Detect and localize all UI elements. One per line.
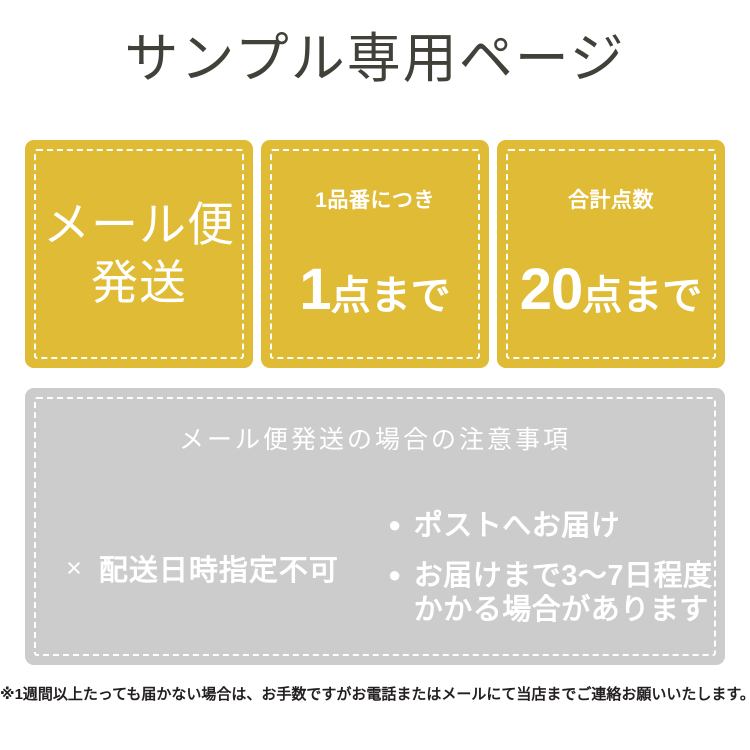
card-per-item-caption: 1品番につき — [269, 190, 481, 211]
bullet-dot-icon: ● — [388, 509, 402, 541]
bullet-dot-icon: ● — [388, 559, 402, 591]
bullet-label: お届けまで3〜7日程度 かかる場合があります — [414, 559, 713, 627]
card-content: メール便 発送 — [25, 196, 253, 313]
card-per-item-limit: 1品番につき 1 点まで — [261, 140, 489, 368]
notice-body: × 配送日時指定不可 ● ポストへお届け ● お届けまで3〜7日程度 かかる場合… — [25, 493, 725, 643]
card-mail-delivery-line1: メール便 — [33, 196, 245, 254]
list-item: ● ポストへお届け — [388, 509, 725, 543]
promo-banner: サンプル専用ページ メール便 発送 1品番につき 1 点まで 合計点数 — [0, 0, 750, 750]
notice-restriction-item: × 配送日時指定不可 — [25, 547, 380, 589]
notice-heading: メール便発送の場合の注意事項 — [25, 428, 725, 453]
card-per-item-unit: 点まで — [331, 276, 451, 316]
footnote-text: ※1週間以上たっても届かない場合は、お手数ですがお電話またはメールにて当店までご… — [0, 683, 750, 704]
card-total-caption: 合計点数 — [505, 190, 717, 211]
notice-restriction-label: 配送日時指定不可 — [99, 547, 339, 589]
cross-icon: × — [66, 555, 83, 582]
card-total-number: 20 — [520, 261, 583, 319]
card-total-value: 20 点まで — [505, 261, 717, 319]
bullet-label: ポストへお届け — [414, 509, 621, 543]
card-content: 1品番につき 1 点まで — [261, 190, 489, 319]
card-per-item-value: 1 点まで — [269, 261, 481, 319]
card-mail-delivery-line2: 発送 — [33, 254, 245, 312]
card-per-item-number: 1 — [299, 261, 330, 319]
card-total-limit: 合計点数 20 点まで — [497, 140, 725, 368]
feature-card-row: メール便 発送 1品番につき 1 点まで 合計点数 20 点まで — [25, 140, 725, 368]
notice-bullet-list: ● ポストへお届け ● お届けまで3〜7日程度 かかる場合があります — [380, 509, 725, 628]
list-item: ● お届けまで3〜7日程度 かかる場合があります — [388, 559, 725, 627]
card-content: 合計点数 20 点まで — [497, 190, 725, 319]
card-mail-delivery: メール便 発送 — [25, 140, 253, 368]
card-total-unit: 点まで — [582, 276, 702, 316]
notice-panel: メール便発送の場合の注意事項 × 配送日時指定不可 ● ポストへお届け ● お届… — [25, 388, 725, 665]
page-title: サンプル専用ページ — [0, 26, 750, 94]
